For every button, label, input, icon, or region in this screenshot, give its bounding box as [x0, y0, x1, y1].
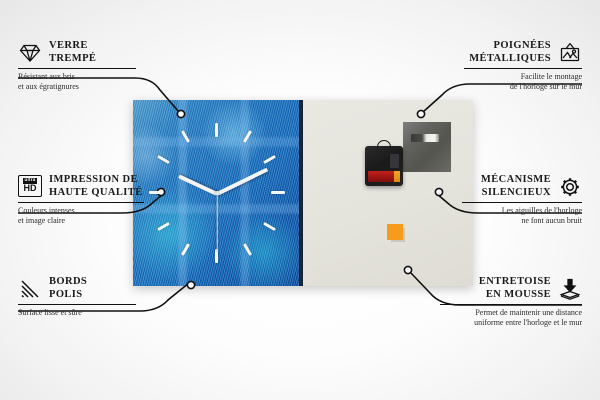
minute-hand: [216, 168, 268, 196]
product-image: [133, 100, 473, 286]
clock-hub: [215, 191, 219, 195]
press-down-foam-icon: [558, 277, 582, 301]
callout-description: Résistant aux bris et aux égratignures: [18, 72, 136, 92]
callout-verre-trempe: VERRE TREMPÉ Résistant aux bris et aux é…: [18, 40, 136, 92]
infographic-stage: VERRE TREMPÉ Résistant aux bris et aux é…: [0, 0, 600, 400]
callout-title: MÉCANISME SILENCIEUX: [481, 174, 551, 199]
hour-tick: [243, 130, 252, 143]
callout-description: Facilite le montage de l'horloge sur le …: [464, 72, 582, 92]
hour-tick: [181, 243, 190, 256]
hour-tick: [149, 191, 163, 194]
hour-tick: [263, 222, 276, 231]
hour-tick: [157, 222, 170, 231]
hour-tick: [181, 130, 190, 143]
hour-tick: [271, 191, 285, 194]
divider: [440, 304, 582, 305]
divider: [464, 68, 582, 69]
hour-tick: [157, 155, 170, 164]
callout-description: Couleurs intenses et image claire: [18, 206, 144, 226]
divider: [18, 202, 144, 203]
callout-title: POIGNÉES MÉTALLIQUES: [469, 40, 551, 65]
callout-description: Surface lisse et sûre: [18, 308, 136, 318]
second-hand: [216, 194, 217, 252]
diamond-icon: [18, 41, 42, 65]
hour-tick: [215, 123, 218, 137]
ultra-hd-icon: ultra HD: [18, 175, 42, 199]
callout-description: Les aiguilles de l'horloge ne font aucun…: [462, 206, 582, 226]
callout-title: ENTRETOISE EN MOUSSE: [479, 276, 551, 301]
callout-poignees-metalliques: POIGNÉES MÉTALLIQUES Facilite le montage…: [464, 40, 582, 92]
callout-title: BORDS POLIS: [49, 276, 87, 301]
callout-impression-hd: ultra HD IMPRESSION DE HAUTE QUALITÉ Cou…: [18, 174, 144, 226]
callout-description: Permet de maintenir une distance uniform…: [440, 308, 582, 328]
callout-mecanisme-silencieux: MÉCANISME SILENCIEUX Les aiguilles de l'…: [462, 174, 582, 226]
picture-frame-hanging-icon: [558, 41, 582, 65]
callout-bords-polis: BORDS POLIS Surface lisse et sûre: [18, 276, 136, 318]
ultra-hd-large-label: HD: [24, 184, 37, 193]
divider: [18, 304, 136, 305]
hour-tick: [263, 155, 276, 164]
divider: [18, 68, 136, 69]
hour-tick: [243, 243, 252, 256]
callout-title: VERRE TREMPÉ: [49, 40, 96, 65]
hour-hand: [178, 174, 218, 195]
gear-icon: [558, 175, 582, 199]
polished-edge-icon: [18, 277, 42, 301]
clock-dial: [133, 100, 473, 286]
divider: [462, 202, 582, 203]
callout-title: IMPRESSION DE HAUTE QUALITÉ: [49, 174, 143, 199]
